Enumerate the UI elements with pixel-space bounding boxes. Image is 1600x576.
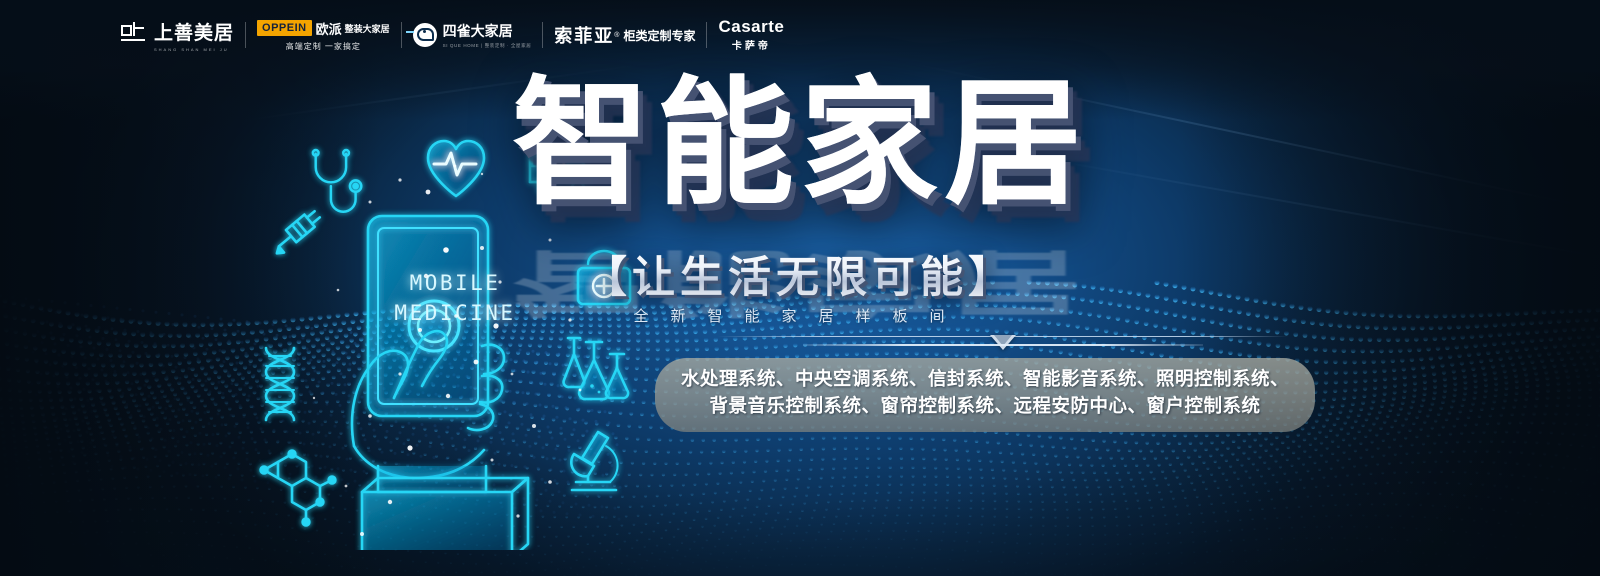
stethoscope-icon [313,150,361,212]
partner-logo-bar: 上善美居 SHANG SHAN MEI JU OPPEIN 欧派 整装大家居 高… [110,14,795,56]
hero-subtitle: 【让生活无限可能】 [584,243,1016,305]
ambulance-icon [530,154,592,194]
logo-que-que-home[interactable]: 四雀大家居 SI QUE HOME | 整装定制 · 全屋家居 [402,16,543,54]
oppein-badge: OPPEIN [257,20,312,36]
feature-line-2: 背景音乐控制系统、窗帘控制系统、远程安防中心、窗户控制系统 [681,394,1289,421]
bird-circle-icon [413,23,437,47]
shangshan-name: 上善美居 [154,18,234,45]
sofia-tagline: 柜类定制专家 [623,27,695,44]
flasks-icon [564,338,629,399]
molecule-icon [261,451,336,526]
microscope-icon [571,432,617,490]
quequ-name: 四雀大家居 [443,21,532,41]
casarte-sub: 卡萨帝 [732,37,771,52]
shangshan-monogram-icon [121,22,147,48]
hero-tagline: 全新智能家居样板间 [633,307,966,325]
sofia-name: 索菲亚 [554,22,614,48]
sofia-superscript: ® [614,32,619,39]
dna-helix-icon [266,348,294,420]
logo-casarte[interactable]: Casarte 卡萨帝 [707,16,795,54]
shangshan-sub: SHANG SHAN MEI JU [154,47,234,52]
divider-rule-bottom [803,344,1203,346]
oppein-name: 欧派 [316,19,342,38]
smart-home-banner: MOBILE MEDICINE 智能家居 智能家居 【让生活无限可能】 全新智能… [0,0,1600,576]
oppein-name-small: 整装大家居 [345,22,390,35]
logo-oppein[interactable]: OPPEIN 欧派 整装大家居 高端定制 一家搞定 [246,16,401,54]
hero-subtitle-wrap: 【让生活无限可能】 [0,243,1600,305]
feature-line-1: 水处理系统、中央空调系统、信封系统、智能影音系统、照明控制系统、 [681,367,1289,394]
oppein-tagline: 高端定制 一家搞定 [286,41,361,52]
logo-sofia[interactable]: 索菲亚 ® 柜类定制专家 [543,16,706,54]
casarte-name: Casarte [718,18,784,35]
feature-list-pill: 水处理系统、中央空调系统、信封系统、智能影音系统、照明控制系统、 背景音乐控制系… [655,358,1315,432]
logo-shangshan-meiju[interactable]: 上善美居 SHANG SHAN MEI JU [110,16,245,54]
medical-illustration: MOBILE MEDICINE [250,130,650,550]
hero-tagline-wrap: 全新智能家居样板间 [0,305,1600,326]
quequ-sub: SI QUE HOME | 整装定制 · 全屋家居 [443,43,532,49]
heart-pulse-icon [428,141,484,196]
decorative-divider [718,333,1288,355]
